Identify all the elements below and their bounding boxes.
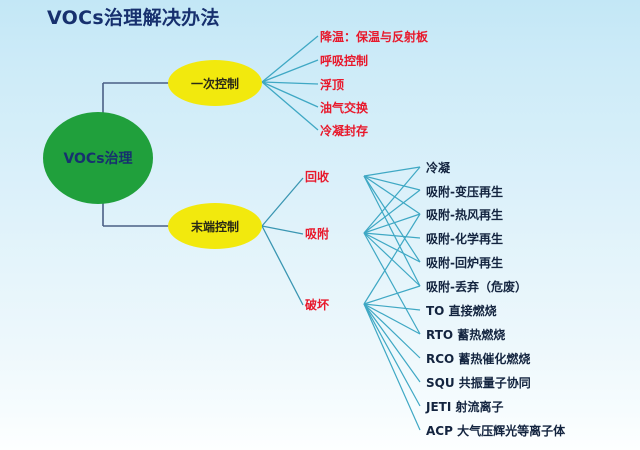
primary-fan-1 (262, 36, 318, 82)
terminal-item-3[interactable]: 吸附-热风再生 (426, 206, 503, 223)
terminal-item-7[interactable]: TO 直接燃烧 (426, 302, 497, 319)
sub-branch-recovery[interactable]: 回收 (305, 168, 329, 185)
primary-item-5[interactable]: 冷凝封存 (320, 122, 368, 139)
terminal-item-12[interactable]: ACP 大气压辉光等离子体 (426, 422, 565, 439)
primary-item-1[interactable]: 降温：保温与反射板 (320, 28, 428, 45)
recovery-fan-3 (364, 176, 420, 214)
branch-node-terminal[interactable]: 末端控制 (168, 203, 262, 249)
terminal-to-recovery-line (262, 178, 303, 226)
destruction-fan-4 (364, 304, 420, 358)
primary-item-3[interactable]: 浮顶 (320, 76, 344, 93)
terminal-item-1[interactable]: 冷凝 (426, 159, 450, 176)
terminal-item-8[interactable]: RTO 蓄热燃烧 (426, 326, 505, 343)
destruction-fan-7 (364, 304, 420, 430)
terminal-to-adsorption-line (262, 226, 303, 234)
destruction-fan-0 (364, 214, 420, 304)
branch-node-terminal-label: 末端控制 (191, 218, 239, 235)
terminal-to-destruction-line (262, 226, 303, 305)
primary-fan-3 (262, 82, 318, 84)
destruction-fan-1 (364, 286, 420, 304)
primary-fan-4 (262, 82, 318, 107)
terminal-item-5[interactable]: 吸附-回炉再生 (426, 254, 503, 271)
primary-fan-5 (262, 82, 318, 130)
page-title: VOCs治理解决办法 (47, 3, 220, 30)
terminal-item-10[interactable]: SQU 共振量子协同 (426, 374, 531, 391)
branch-node-primary-label: 一次控制 (191, 75, 239, 92)
terminal-item-4[interactable]: 吸附-化学再生 (426, 230, 503, 247)
branch-node-primary[interactable]: 一次控制 (168, 60, 262, 106)
root-node-label: VOCs治理 (63, 148, 132, 168)
root-node[interactable]: VOCs治理 (43, 112, 153, 204)
sub-branch-adsorption[interactable]: 吸附 (305, 225, 329, 242)
destruction-fan-5 (364, 304, 420, 382)
primary-fan-2 (262, 60, 318, 82)
terminal-item-2[interactable]: 吸附-变压再生 (426, 183, 503, 200)
terminal-item-9[interactable]: RCO 蓄热催化燃烧 (426, 350, 530, 367)
recovery-fan-5 (364, 176, 420, 286)
mindmap-canvas: VOCs治理解决办法 VOCs治理 一次控制 末端控制 降温：保温与反射板 呼吸… (0, 0, 640, 450)
terminal-item-6[interactable]: 吸附-丢弃（危废） (426, 278, 527, 295)
recovery-fan-1 (364, 167, 420, 176)
sub-branch-destruction[interactable]: 破坏 (305, 296, 329, 313)
terminal-item-11[interactable]: JETI 射流离子 (426, 398, 504, 415)
primary-item-2[interactable]: 呼吸控制 (320, 52, 368, 69)
primary-item-4[interactable]: 油气交换 (320, 99, 368, 116)
